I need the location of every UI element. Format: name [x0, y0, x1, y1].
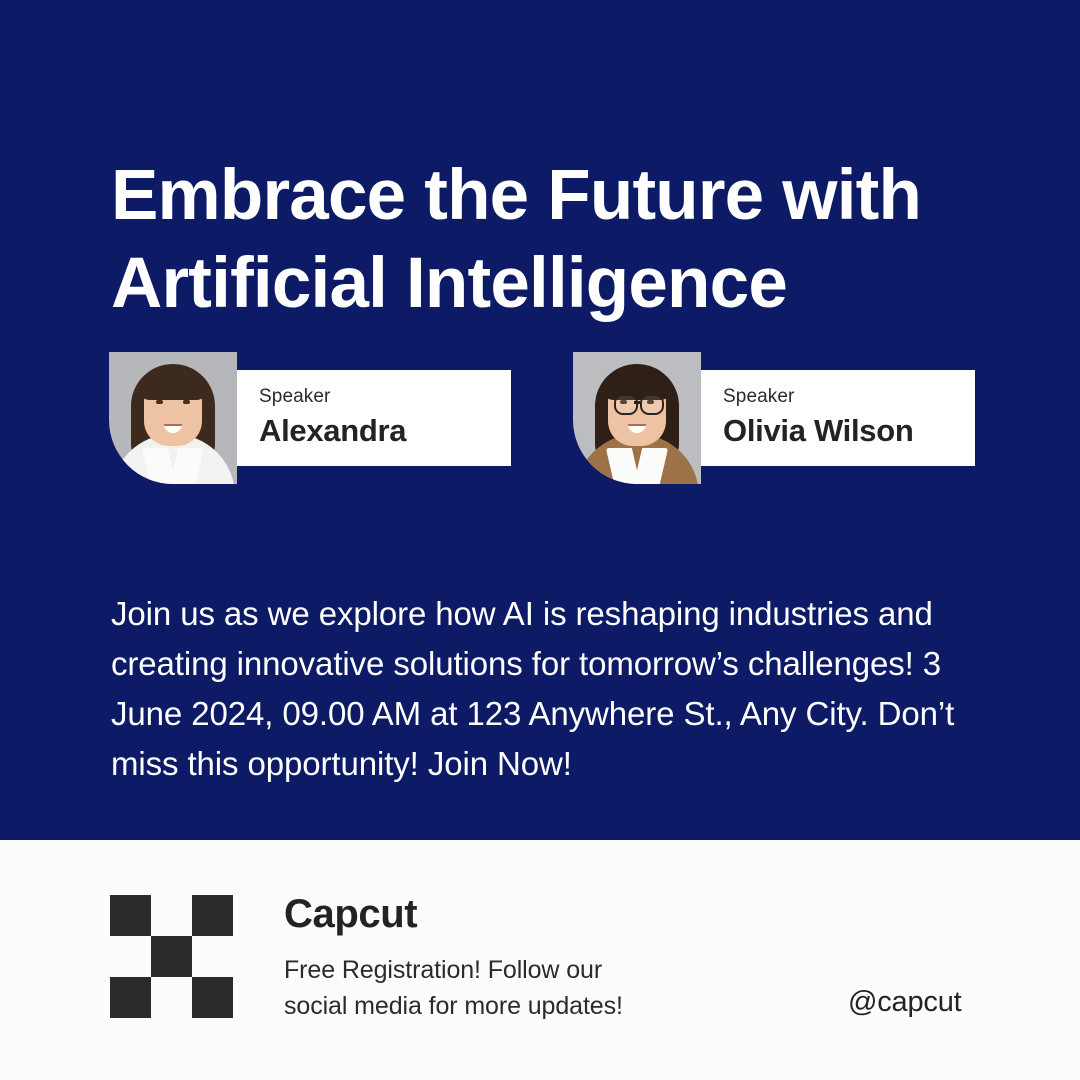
body-paragraph: Join us as we explore how AI is reshapin… [111, 589, 991, 790]
portrait-illustration [109, 352, 237, 484]
logo-cell [151, 936, 192, 977]
social-handle[interactable]: @capcut [848, 986, 961, 1019]
logo-cell [151, 977, 192, 1018]
logo-cell [192, 895, 233, 936]
speaker-card[interactable]: Speaker Olivia Wilson [573, 352, 975, 484]
speaker-card[interactable]: Speaker Alexandra [109, 352, 511, 484]
speaker-avatar [109, 352, 237, 484]
eye-right-shape [183, 400, 190, 404]
speaker-name-panel: Speaker Alexandra [237, 370, 511, 466]
brand-block: Capcut Free Registration! Follow our soc… [284, 893, 754, 1024]
speaker-name: Alexandra [259, 415, 501, 448]
speaker-name-panel-inner: Speaker Alexandra [259, 387, 501, 448]
speaker-name: Olivia Wilson [723, 415, 965, 448]
logo-cell [192, 936, 233, 977]
logo-cell [192, 977, 233, 1018]
speaker-name-panel: Speaker Olivia Wilson [701, 370, 975, 466]
brand-tagline: Free Registration! Follow our social med… [284, 953, 754, 1024]
speaker-role-label: Speaker [723, 387, 965, 406]
brand-name: Capcut [284, 893, 754, 935]
speaker-avatar [573, 352, 701, 484]
logo-cell [110, 936, 151, 977]
hair-top-shape [140, 366, 206, 400]
checkerboard-x-logo-icon [110, 895, 233, 1018]
logo-cell [110, 895, 151, 936]
eye-left-shape [156, 400, 163, 404]
logo-cell [110, 977, 151, 1018]
page-title: Embrace the Future with Artificial Intel… [111, 152, 1011, 328]
eyeglasses-icon [614, 394, 638, 415]
portrait-illustration [573, 352, 701, 484]
poster-canvas: Embrace the Future with Artificial Intel… [0, 0, 1080, 1080]
eyeglasses-icon [640, 394, 664, 415]
logo-cell [151, 895, 192, 936]
speaker-card-list: Speaker Alexandra [109, 352, 975, 484]
speaker-name-panel-inner: Speaker Olivia Wilson [723, 387, 965, 448]
eyeglasses-bridge-shape [634, 401, 640, 404]
speaker-role-label: Speaker [259, 387, 501, 406]
